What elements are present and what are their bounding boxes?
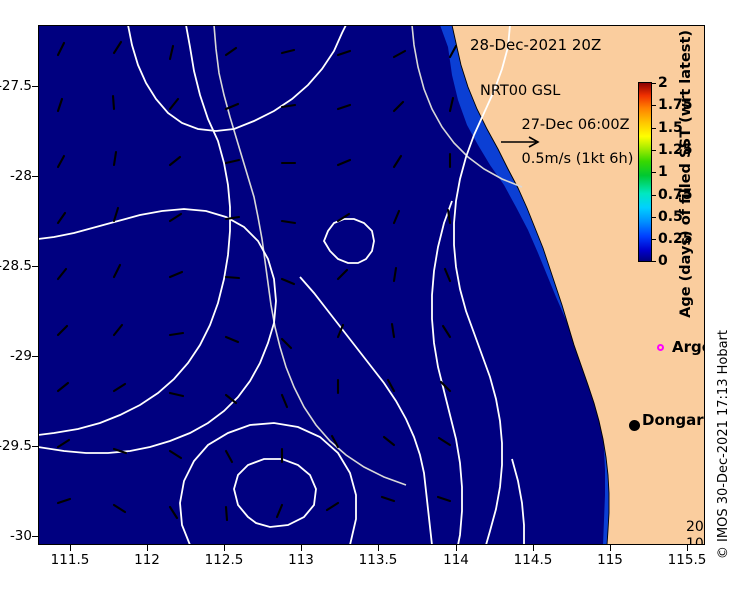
figure-root: 28-Dec-2021 20Z NRT00 GSL 27-Dec 06:00Z …	[0, 0, 740, 592]
x-tick	[301, 545, 302, 551]
x-tick	[456, 545, 457, 551]
x-tick	[378, 545, 379, 551]
map-plot-area[interactable]: 28-Dec-2021 20Z NRT00 GSL 27-Dec 06:00Z …	[38, 25, 705, 545]
colorbar-title: Age (days) of filled SST (wrt latest)	[678, 30, 694, 318]
y-tick	[32, 446, 38, 447]
dongara-marker-label: Dongara	[642, 411, 705, 429]
colorbar-tick	[652, 105, 656, 106]
y-tick-label: -28	[0, 168, 32, 184]
colorbar-tick-label: 2	[658, 75, 668, 91]
x-tick-label: 112.5	[194, 552, 254, 568]
colorbar-tick-label: 0	[658, 253, 668, 269]
vector-line-2: 27-Dec 06:00Z	[521, 117, 629, 133]
x-tick	[224, 545, 225, 551]
contour-1000m-layer	[214, 25, 522, 485]
colorbar-tick	[652, 128, 656, 129]
depth-contour-legend: 200m 1000m	[686, 519, 705, 545]
x-tick	[147, 545, 148, 551]
right-arrow-icon	[500, 135, 544, 149]
depth-legend-1000m: 1000m	[686, 536, 705, 545]
x-tick-label: 113.5	[348, 552, 408, 568]
contour-200m-layer	[38, 25, 524, 545]
x-tick-label: 115	[580, 552, 640, 568]
x-tick	[70, 545, 71, 551]
y-tick	[32, 266, 38, 267]
x-tick	[687, 545, 688, 551]
x-tick	[533, 545, 534, 551]
y-tick	[32, 356, 38, 357]
y-tick-label: -27.5	[0, 78, 32, 94]
x-tick-label: 113	[271, 552, 331, 568]
y-tick	[32, 176, 38, 177]
x-tick-label: 114.5	[503, 552, 563, 568]
colorbar-tick	[652, 261, 656, 262]
colorbar-tick	[652, 195, 656, 196]
copyright-label: © IMOS 30-Dec-2021 17:13 Hobart	[716, 330, 731, 559]
vector-line-3: 0.5m/s (1kt 6h)	[521, 151, 633, 167]
colorbar-tick	[652, 150, 656, 151]
argo-marker-label: Argo	[672, 338, 705, 356]
x-tick-label: 115.5	[657, 552, 717, 568]
colorbar-tick-label: 1	[658, 164, 668, 180]
y-tick	[32, 86, 38, 87]
argo-marker-icon[interactable]	[657, 344, 664, 351]
y-tick	[32, 536, 38, 537]
y-tick-label: -29	[0, 348, 32, 364]
x-tick-label: 114	[426, 552, 486, 568]
depth-legend-200m: 200m	[686, 519, 705, 536]
colorbar-gradient[interactable]	[638, 82, 652, 262]
colorbar-tick	[652, 172, 656, 173]
y-tick-label: -28.5	[0, 258, 32, 274]
y-tick-label: -29.5	[0, 438, 32, 454]
colorbar-tick	[652, 217, 656, 218]
colorbar-tick	[652, 239, 656, 240]
date-label: 28-Dec-2021 20Z	[470, 37, 601, 54]
current-vector-arrows	[58, 42, 456, 520]
vector-line-1: NRT00 GSL	[480, 83, 560, 99]
colorbar-tick	[652, 83, 656, 84]
y-tick-label: -30	[0, 528, 32, 544]
x-tick-label: 111.5	[40, 552, 100, 568]
vector-scale-label: NRT00 GSL 27-Dec 06:00Z 0.5m/s (1kt 6h)	[480, 83, 633, 168]
x-tick	[610, 545, 611, 551]
x-tick-label: 112	[117, 552, 177, 568]
dongara-marker-icon[interactable]	[629, 420, 640, 431]
